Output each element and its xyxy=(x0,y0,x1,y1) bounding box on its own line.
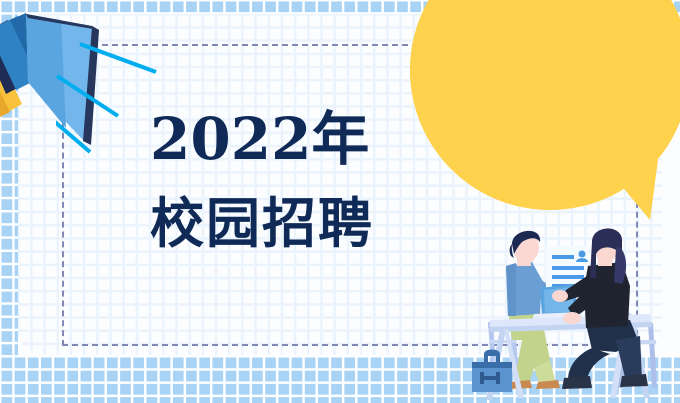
campus-recruitment-banner: 2022年 校园招聘 xyxy=(0,0,680,403)
briefcase xyxy=(472,350,512,393)
page-title: 2022年 校园招聘 xyxy=(150,110,430,250)
headline-line-2: 校园招聘 xyxy=(150,196,430,250)
speech-bubble xyxy=(400,0,680,220)
interview-illustration xyxy=(470,228,680,403)
headline-line-1: 2022年 xyxy=(150,110,430,168)
